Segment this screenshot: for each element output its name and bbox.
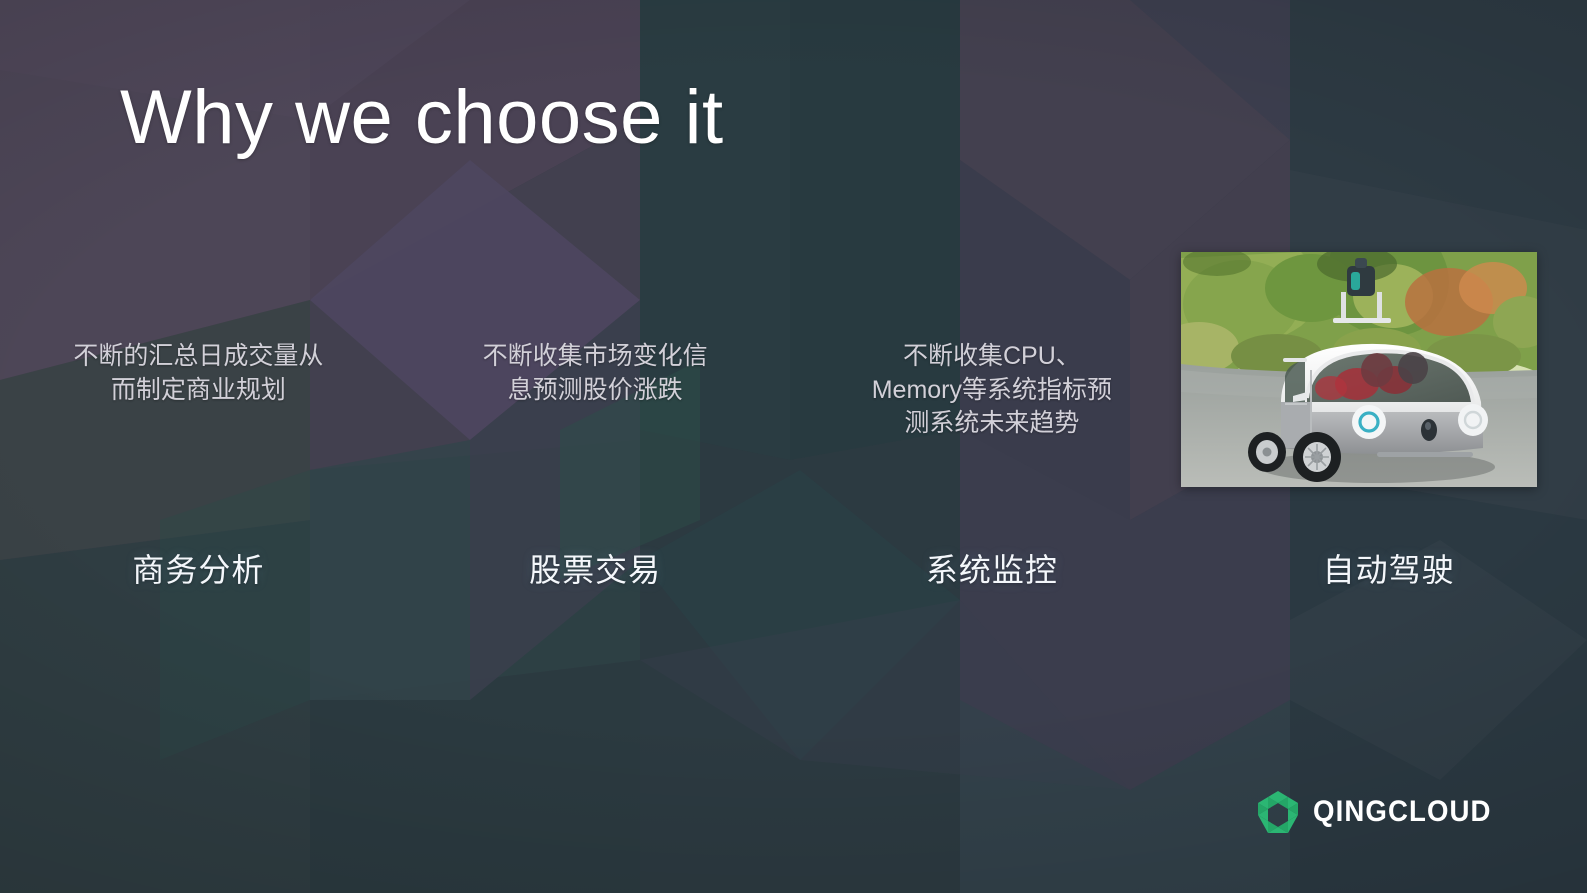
- label-cell-stock-trading: 股票交易: [397, 545, 794, 591]
- slide-title: Why we choose it: [120, 78, 724, 158]
- qingcloud-hexagon-icon: [1256, 789, 1300, 835]
- brand-logo: QINGCLOUD: [1256, 789, 1507, 835]
- presentation-slide: Why we choose it 不断的汇总日成交量从 而制定商业规划 不断收集…: [0, 0, 1587, 893]
- column-description: 不断的汇总日成交量从 而制定商业规划: [63, 340, 333, 407]
- category-label: 商务分析: [132, 552, 264, 588]
- column-business-analysis: 不断的汇总日成交量从 而制定商业规划: [0, 300, 397, 660]
- column-description: 不断收集市场变化信 息预测股价涨跌: [460, 340, 730, 407]
- category-label: 系统监控: [926, 552, 1058, 588]
- column-system-monitoring: 不断收集CPU、 Memory等系统指标预 测系统未来趋势: [794, 300, 1191, 660]
- category-label: 股票交易: [529, 552, 661, 588]
- label-cell-system-monitoring: 系统监控: [794, 545, 1191, 591]
- column-stock-trading: 不断收集市场变化信 息预测股价涨跌: [397, 300, 794, 660]
- self-driving-car-photo: [1181, 252, 1537, 487]
- label-cell-business-analysis: 商务分析: [0, 545, 397, 591]
- brand-wordmark: QINGCLOUD: [1313, 795, 1492, 829]
- label-cell-autonomous-driving: 自动驾驶: [1190, 545, 1587, 591]
- self-driving-car-illustration: [1181, 252, 1537, 487]
- column-description: 不断收集CPU、 Memory等系统指标预 测系统未来趋势: [857, 340, 1127, 441]
- category-labels-row: 商务分析 股票交易 系统监控 自动驾驶: [0, 545, 1587, 591]
- category-label: 自动驾驶: [1323, 552, 1455, 588]
